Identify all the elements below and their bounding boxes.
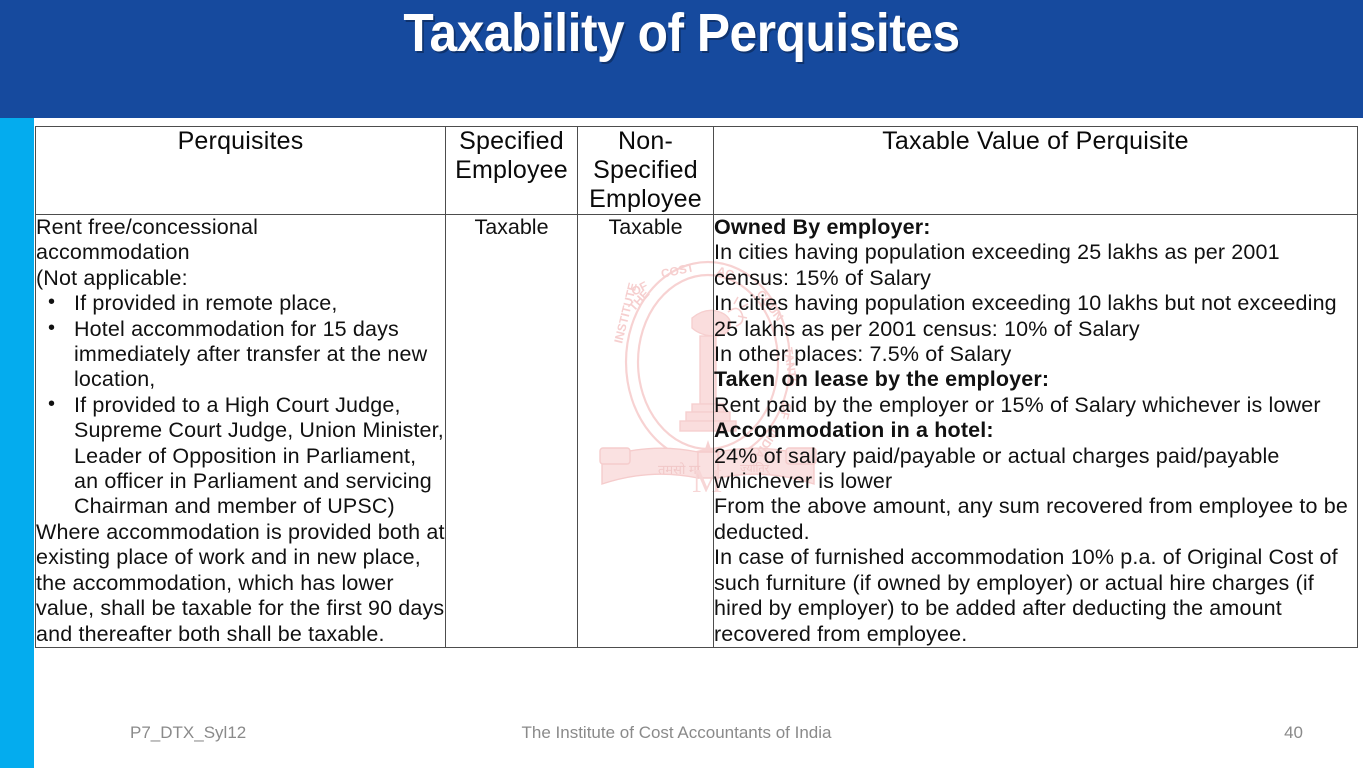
taxable-value-heading-owned: Owned By employer: [714,215,1357,240]
taxable-value-line-recovered: From the above amount, any sum recovered… [714,494,1357,545]
cell-taxable-value: Owned By employer: In cities having popu… [714,215,1358,648]
list-item: Hotel accommodation for 15 days immediat… [74,317,445,393]
perquisite-outro: Where accommodation is provided both at … [36,520,445,647]
table-row: Rent free/concessional accommodation (No… [36,215,1358,648]
column-header-perquisites: Perquisites [36,127,446,215]
perquisites-table: Perquisites Specified Employee Non- Spec… [35,126,1358,648]
footer-institute-name: The Institute of Cost Accountants of Ind… [34,722,1319,744]
taxable-value-line-hotel-24: 24% of salary paid/payable or actual cha… [714,444,1357,495]
cell-perquisite-description: Rent free/concessional accommodation (No… [36,215,446,648]
cell-specified-employee: Taxable [446,215,578,648]
footer-page-number: 40 [1284,722,1303,744]
header-line-1: Non- [618,127,673,155]
taxable-value-heading-lease: Taken on lease by the employer: [714,367,1357,392]
left-accent-bar [0,118,34,768]
list-item: If provided in remote place, [74,291,445,316]
taxable-value-line-other: In other places: 7.5% of Salary [714,342,1357,367]
column-header-specified-employee: Specified Employee [446,127,578,215]
perquisite-intro-line-1: Rent free/concessional [36,215,445,240]
list-item: If provided to a High Court Judge, Supre… [74,393,445,520]
perquisite-intro-line-2: accommodation [36,240,445,265]
perquisite-intro-line-3: (Not applicable: [36,266,445,291]
header-line-2: Specified [593,156,698,184]
slide-footer: P7_DTX_Syl12 The Institute of Cost Accou… [34,718,1363,752]
header-line-2: Employee [455,156,568,184]
taxable-value-line-furnished: In case of furnished accommodation 10% p… [714,545,1357,647]
column-header-taxable-value: Taxable Value of Perquisite [714,127,1358,215]
table-header-row: Perquisites Specified Employee Non- Spec… [36,127,1358,215]
column-header-non-specified-employee: Non- Specified Employee [578,127,714,215]
taxable-value-heading-hotel: Accommodation in a hotel: [714,418,1357,443]
cell-non-specified-employee: Taxable [578,215,714,648]
perquisite-exclusion-list: If provided in remote place, Hotel accom… [36,291,445,520]
page-title: Taxability of Perquisites [55,2,1309,64]
title-band: Taxability of Perquisites [0,0,1363,118]
taxable-value-line-25-lakhs: In cities having population exceeding 25… [714,240,1357,291]
taxable-value-line-rent-paid: Rent paid by the employer or 15% of Sala… [714,393,1357,418]
taxable-value-line-10-lakhs: In cities having population exceeding 10… [714,291,1357,342]
header-line-1: Specified [459,127,564,155]
header-line-3: Employee [589,185,702,213]
